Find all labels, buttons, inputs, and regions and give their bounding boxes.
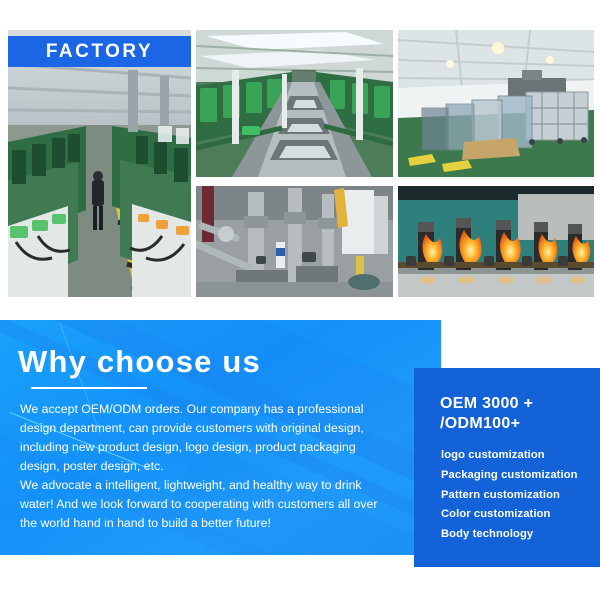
list-item: Pattern customization xyxy=(441,486,599,506)
photo-assembly-conveyor-line xyxy=(196,30,393,177)
photo-flame-treatment-line xyxy=(398,186,594,297)
factory-photo-grid xyxy=(8,30,592,297)
oem-capability-list: logo customization Packaging customizati… xyxy=(441,446,599,545)
why-choose-us-body: We accept OEM/ODM orders. Our company ha… xyxy=(20,400,385,533)
photo-machining-illustration xyxy=(196,186,393,297)
list-item: logo customization xyxy=(441,446,599,466)
why-paragraph-1: We accept OEM/ODM orders. Our company ha… xyxy=(20,400,385,476)
photo-injection-molding-illustration xyxy=(8,30,191,297)
why-choose-us-title: Why choose us xyxy=(18,344,261,380)
oem-heading: OEM 3000 + /ODM100+ xyxy=(440,394,590,434)
photo-conveyor-illustration xyxy=(196,30,393,177)
photo-factory-injection-molding-hall xyxy=(8,30,191,297)
title-underline xyxy=(31,387,147,389)
photo-warehouse-storage-racks xyxy=(398,30,594,177)
oem-odm-panel: OEM 3000 + /ODM100+ logo customization P… xyxy=(414,368,600,567)
photo-machining-press-station xyxy=(196,186,393,297)
why-paragraph-2: We advocate a intelligent, lightweight, … xyxy=(20,476,385,533)
list-item: Packaging customization xyxy=(441,466,599,486)
photo-warehouse-illustration xyxy=(398,30,594,177)
list-item: Body technology xyxy=(441,525,599,545)
oem-heading-line-2: /ODM100+ xyxy=(440,414,590,434)
factory-badge: FACTORY xyxy=(8,36,191,67)
photo-flame-illustration xyxy=(398,186,594,297)
list-item: Color customization xyxy=(441,505,599,525)
oem-heading-line-1: OEM 3000 + xyxy=(440,394,590,414)
